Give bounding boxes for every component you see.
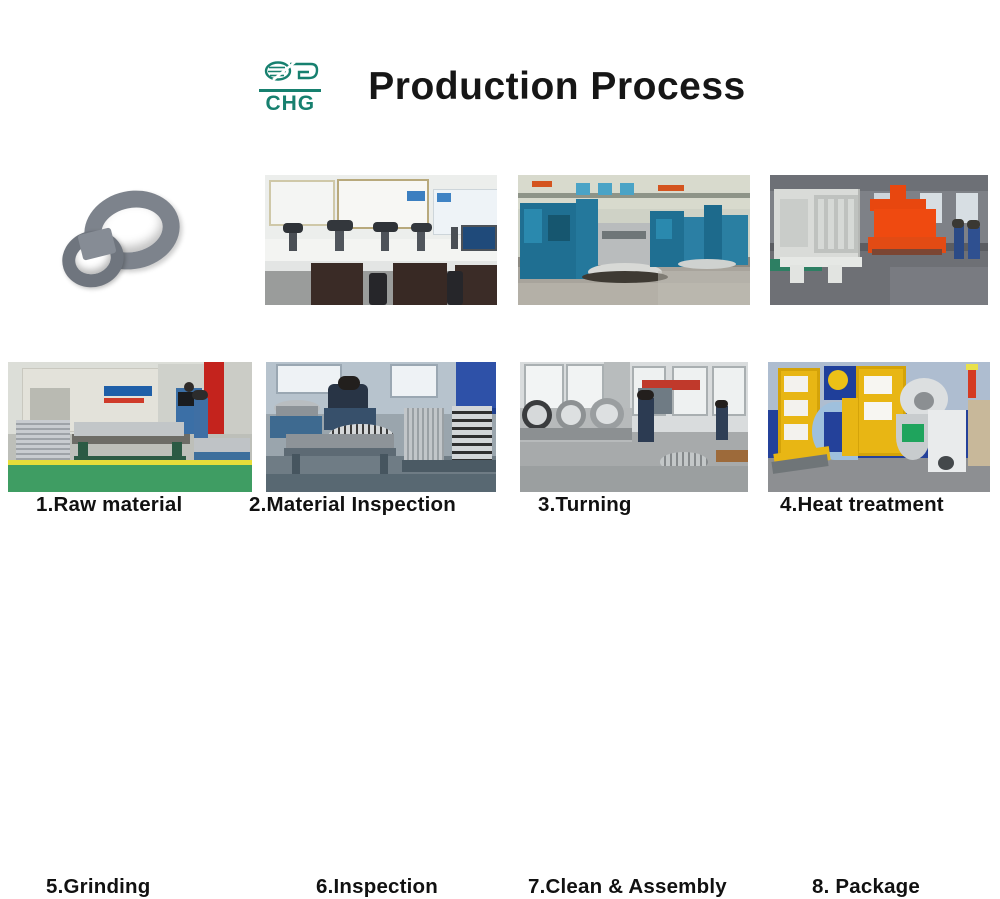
- step-5-caption: 5.Grinding: [46, 875, 151, 899]
- step-8-image: [768, 362, 990, 492]
- step-1-image: [22, 175, 252, 305]
- step-4-image: [770, 175, 988, 305]
- step-3-image: [518, 175, 750, 305]
- step-2-caption: 2.Material Inspection: [249, 493, 456, 517]
- process-grid: 1.Raw material: [0, 0, 1000, 563]
- step-1-caption: 1.Raw material: [36, 493, 182, 517]
- step-2-image: [265, 175, 497, 305]
- step-6-caption: 6.Inspection: [316, 875, 438, 899]
- step-7-image: [520, 362, 748, 492]
- step-8-caption: 8. Package: [812, 875, 920, 899]
- step-4-caption: 4.Heat treatment: [780, 493, 944, 517]
- step-7-caption: 7.Clean & Assembly: [528, 875, 727, 899]
- step-3-caption: 3.Turning: [538, 493, 632, 517]
- step-6-image: [266, 362, 496, 492]
- step-5-image: [8, 362, 252, 492]
